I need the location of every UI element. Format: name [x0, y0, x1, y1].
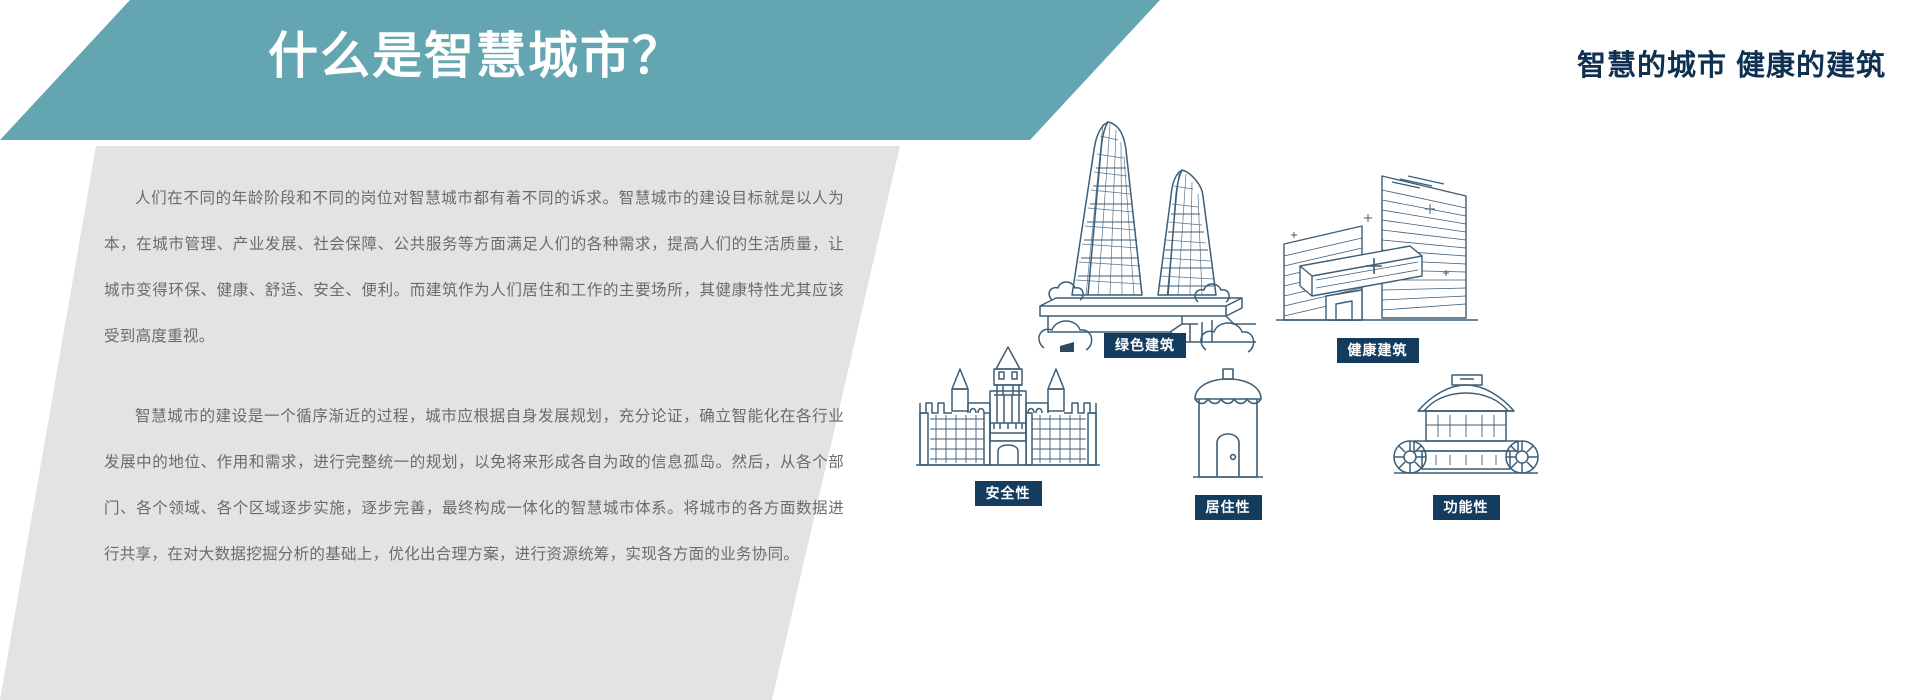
twin-towers-icon [1030, 110, 1260, 325]
illustration-living: 居住性 [1185, 365, 1271, 520]
illustration-green-building: 绿色建筑 [1030, 110, 1260, 358]
house-icon [1185, 365, 1271, 487]
illustration-label-safety: 安全性 [975, 481, 1042, 506]
paragraph-1: 人们在不同的年龄阶段和不同的岗位对智慧城市都有着不同的诉求。智慧城市的建设目标就… [104, 176, 844, 360]
illustration-health-building: 健康建筑 [1270, 170, 1485, 363]
illustration-safety: 安全性 [900, 345, 1116, 506]
illustration-label-living: 居住性 [1195, 495, 1262, 520]
illustration-group: 绿色建筑 [900, 100, 1920, 700]
pavilion-icon [1390, 365, 1542, 487]
right-headline: 智慧的城市 健康的建筑 [1577, 42, 1886, 84]
page-title: 什么是智慧城市？ [268, 31, 684, 81]
illustration-label-health-building: 健康建筑 [1337, 338, 1419, 363]
body-text-block: 人们在不同的年龄阶段和不同的岗位对智慧城市都有着不同的诉求。智慧城市的建设目标就… [104, 176, 844, 578]
illustration-label-function: 功能性 [1433, 495, 1500, 520]
hospital-building-icon [1270, 170, 1485, 330]
illustration-function: 功能性 [1390, 365, 1542, 520]
illustration-label-green-building: 绿色建筑 [1104, 333, 1186, 358]
castle-icon [900, 345, 1116, 473]
paragraph-2: 智慧城市的建设是一个循序渐近的过程，城市应根据自身发展规划，充分论证，确立智能化… [104, 394, 844, 578]
